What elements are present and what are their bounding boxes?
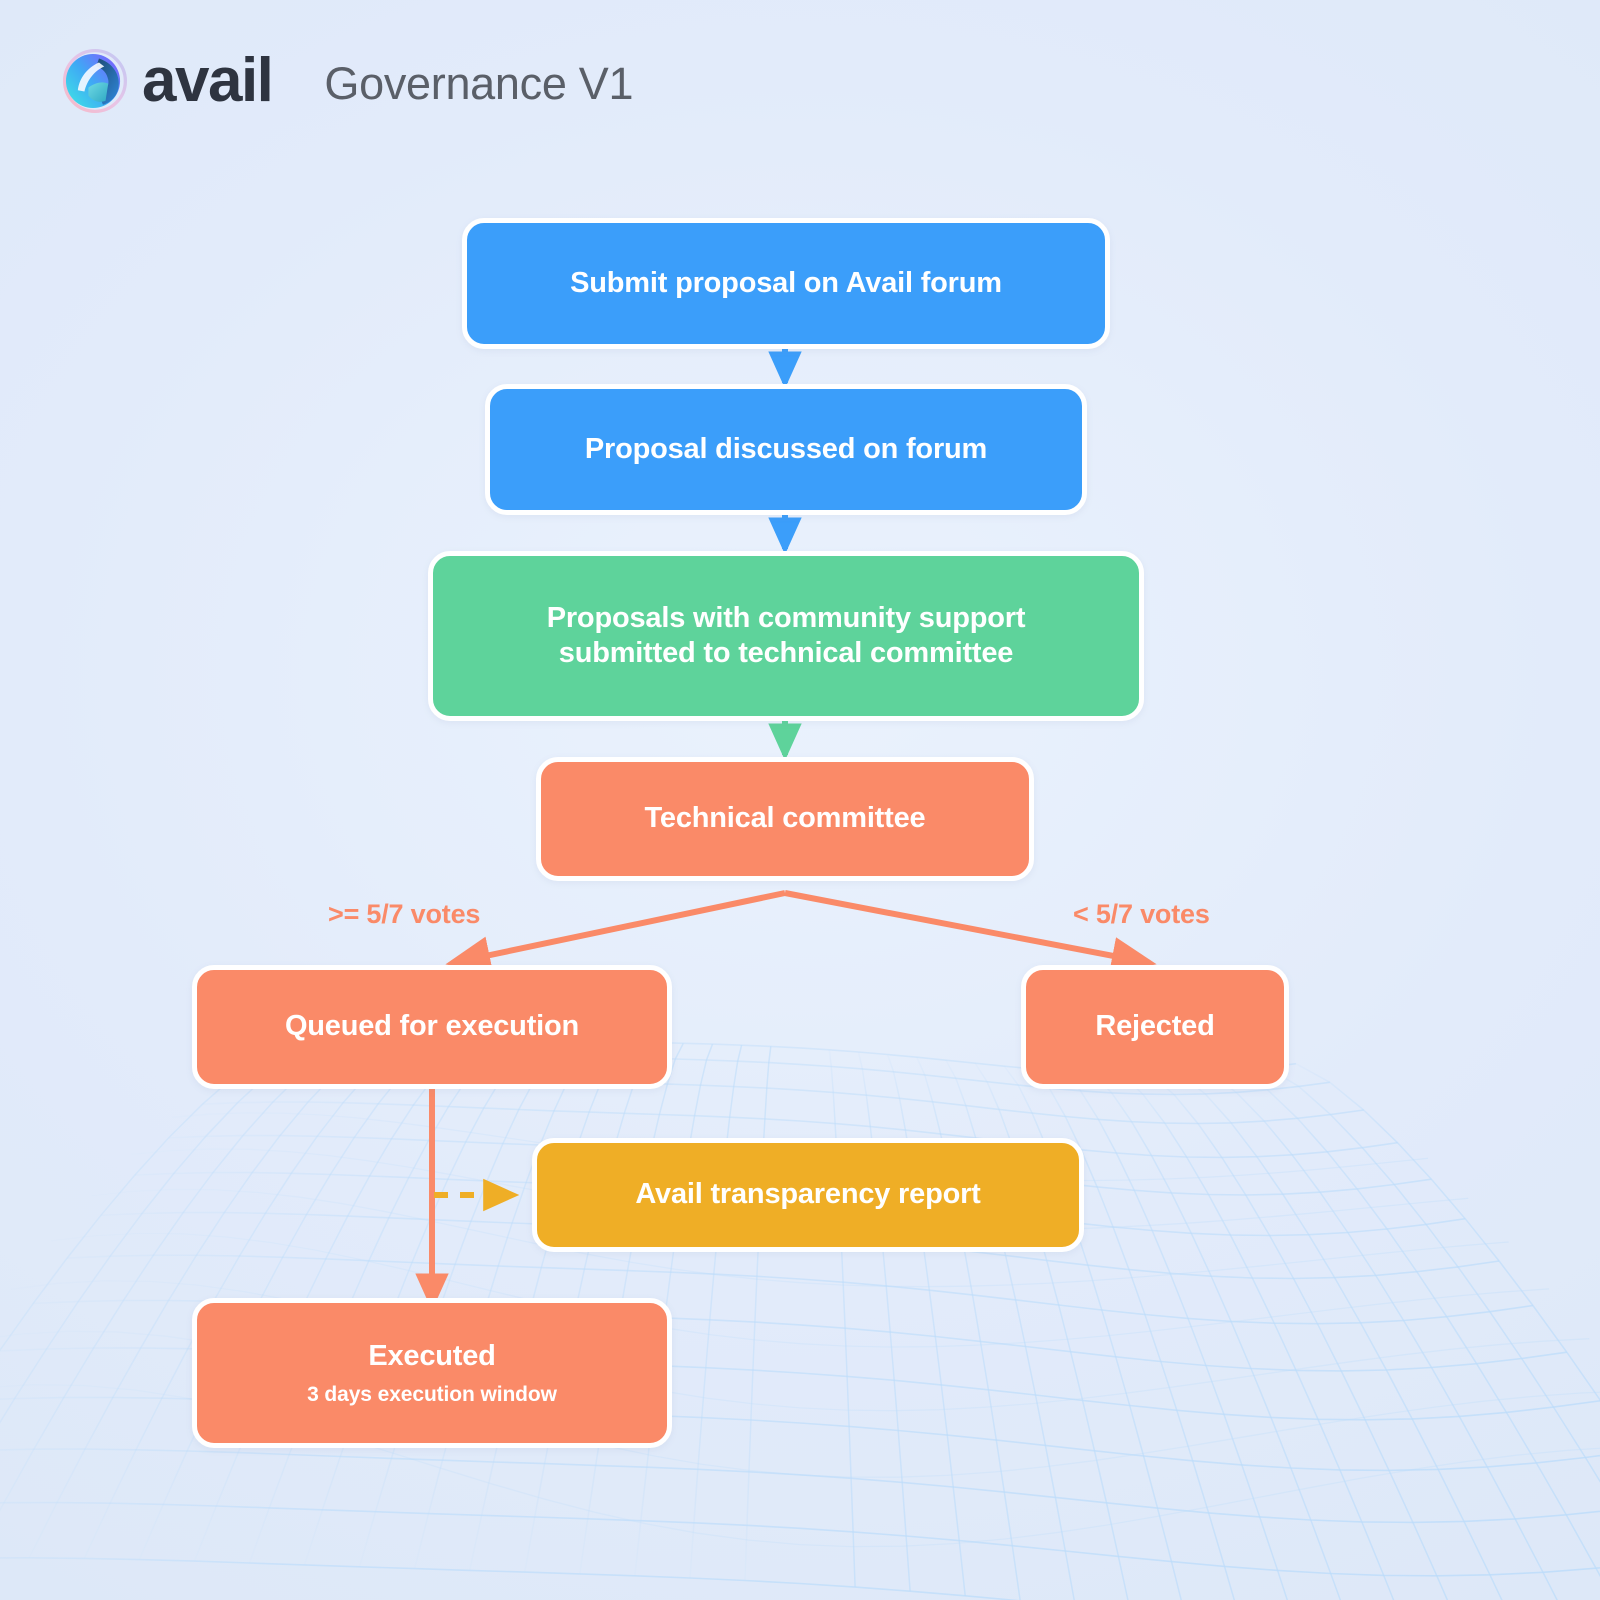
node-proposal-discussed[interactable]: Proposal discussed on forum (485, 384, 1087, 515)
node-label: Avail transparency report (635, 1177, 980, 1212)
node-label: Executed (368, 1339, 495, 1374)
edge-label-reject: < 5/7 votes (1073, 899, 1210, 930)
node-submit-proposal[interactable]: Submit proposal on Avail forum (462, 218, 1110, 349)
node-label-line-1: Proposals with community support (547, 601, 1026, 636)
node-sublabel: 3 days execution window (307, 1383, 557, 1407)
node-label: Submit proposal on Avail forum (570, 266, 1002, 301)
node-label: Technical committee (645, 801, 926, 836)
edge-label-approve: >= 5/7 votes (328, 899, 480, 930)
brand-lockup: avail (62, 48, 272, 114)
node-label: Queued for execution (285, 1009, 579, 1044)
node-label: Rejected (1095, 1009, 1214, 1044)
node-label: Proposal discussed on forum (585, 432, 987, 467)
node-queued-for-execution[interactable]: Queued for execution (192, 965, 672, 1089)
avail-swirl-logo-icon (62, 48, 128, 114)
page-header: avail Governance V1 (62, 48, 633, 114)
page-title: Governance V1 (324, 57, 633, 106)
node-avail-transparency-report[interactable]: Avail transparency report (532, 1138, 1084, 1252)
node-technical-committee[interactable]: Technical committee (536, 757, 1034, 881)
brand-wordmark: avail (142, 50, 272, 112)
node-executed[interactable]: Executed 3 days execution window (192, 1298, 672, 1448)
governance-flowchart: Submit proposal on Avail forum Proposal … (0, 0, 1600, 1600)
node-rejected[interactable]: Rejected (1021, 965, 1289, 1089)
node-label-line-2: submitted to technical committee (559, 636, 1013, 671)
node-community-support[interactable]: Proposals with community support submitt… (428, 551, 1144, 721)
